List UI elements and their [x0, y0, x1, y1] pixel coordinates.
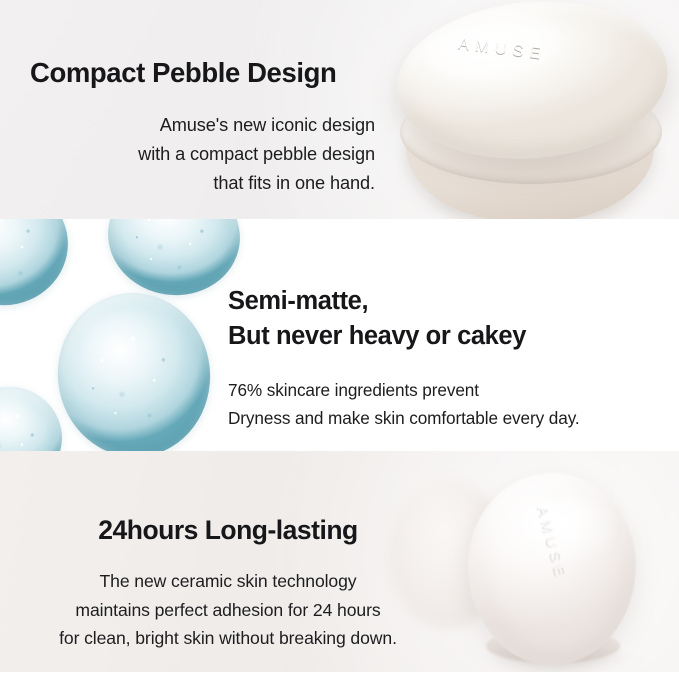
panel2-body-line-1: 76% skincare ingredients prevent — [228, 376, 668, 405]
bottom-white-strip — [0, 672, 679, 679]
panel1-body: Amuse's new iconic design with a compact… — [30, 111, 375, 199]
panel1-body-line-1: Amuse's new iconic design — [30, 111, 375, 140]
gel-droplet-1 — [0, 219, 79, 317]
panel-24hours-long-lasting: AMUSE 24hours Long-lasting The new ceram… — [0, 451, 679, 672]
panel3-body: The new ceramic skin technology maintain… — [18, 567, 438, 654]
cushion-compact-closed-tilted-image: AMUSE — [396, 0, 679, 219]
panel1-body-line-3: that fits in one hand. — [30, 169, 375, 198]
panel3-body-line-3: for clean, bright skin without breaking … — [18, 624, 438, 653]
panel2-body-line-2: Dryness and make skin comfortable every … — [228, 404, 668, 433]
gel-droplet-2 — [100, 219, 247, 304]
panel1-body-line-2: with a compact pebble design — [30, 140, 375, 169]
panel2-heading: Semi-matte, But never heavy or cakey — [228, 284, 668, 354]
panel2-body: 76% skincare ingredients prevent Dryness… — [228, 376, 668, 433]
panel2-text-block: Semi-matte, But never heavy or cakey 76%… — [228, 263, 668, 450]
panel1-text-block: Compact Pebble Design Amuse's new iconic… — [30, 36, 375, 217]
panel-compact-pebble-design: AMUSE Compact Pebble Design Amuse's new … — [0, 0, 679, 219]
panel3-text-block: 24hours Long-lasting The new ceramic ski… — [18, 495, 438, 671]
panel2-heading-line-1: Semi-matte, — [228, 284, 668, 319]
panel3-heading: 24hours Long-lasting — [18, 517, 438, 545]
panel3-body-line-1: The new ceramic skin technology — [18, 567, 438, 596]
gel-droplet-3 — [50, 286, 218, 451]
panel2-heading-line-2: But never heavy or cakey — [228, 319, 668, 354]
cushion-compact-upright-frosted-image: AMUSE — [440, 461, 679, 672]
panel-semi-matte: Semi-matte, But never heavy or cakey 76%… — [0, 219, 679, 451]
product-feature-poster: AMUSE Compact Pebble Design Amuse's new … — [0, 0, 679, 679]
compact3-highlight — [516, 497, 624, 569]
panel3-body-line-2: maintains perfect adhesion for 24 hours — [18, 596, 438, 625]
panel1-heading: Compact Pebble Design — [30, 59, 375, 88]
